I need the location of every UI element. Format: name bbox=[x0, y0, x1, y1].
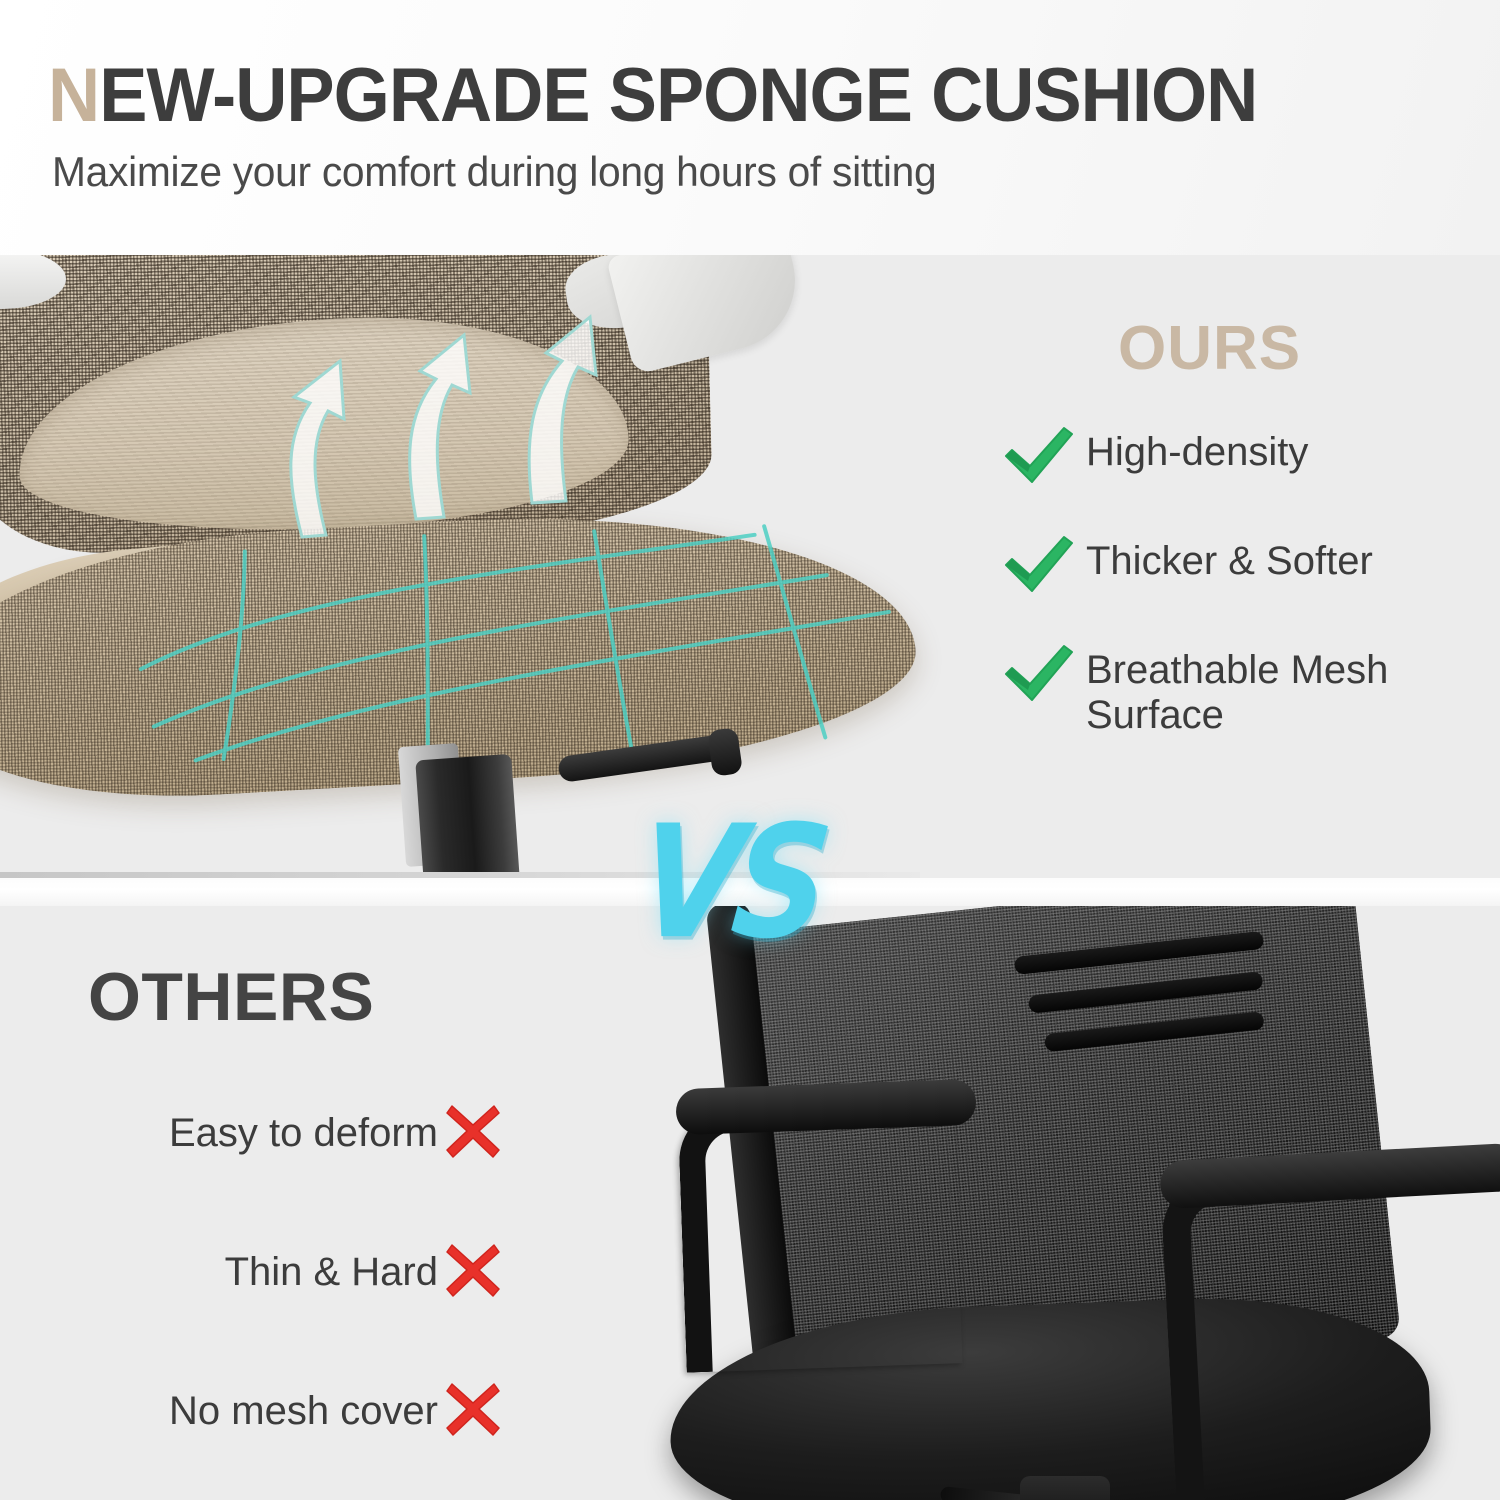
black-chair-left-armrest bbox=[677, 1097, 962, 1372]
cross-icon bbox=[444, 1102, 508, 1165]
black-chair-lumbar-ribs bbox=[1013, 920, 1307, 1098]
list-item-label: No mesh cover bbox=[169, 1389, 438, 1434]
header-banner: NEW-UPGRADE SPONGE CUSHION Maximize your… bbox=[0, 0, 1500, 255]
ours-heading: OURS bbox=[1118, 313, 1480, 384]
black-chair-base-column bbox=[1020, 1476, 1110, 1500]
list-item: High-density bbox=[1000, 430, 1480, 493]
product-infographic: NEW-UPGRADE SPONGE CUSHION Maximize your… bbox=[0, 0, 1500, 1500]
ours-feature-block: OURS High-density bbox=[1000, 313, 1480, 784]
check-icon bbox=[1000, 426, 1086, 493]
list-item: Breathable Mesh Surface bbox=[1000, 648, 1480, 738]
list-item-label: Breathable Mesh Surface bbox=[1086, 648, 1446, 738]
others-feature-block: OTHERS Easy to deform Thin & Hard bbox=[88, 958, 608, 1500]
others-heading: OTHERS bbox=[88, 958, 608, 1036]
page-subtitle: Maximize your comfort during long hours … bbox=[52, 148, 936, 196]
cross-icon bbox=[444, 1380, 508, 1443]
check-icon bbox=[1000, 535, 1086, 602]
page-title: NEW-UPGRADE SPONGE CUSHION bbox=[48, 52, 1257, 139]
list-item-label: Thin & Hard bbox=[225, 1250, 438, 1295]
others-feature-list: Easy to deform Thin & Hard bbox=[88, 1102, 608, 1443]
ours-feature-list: High-density Thicker & Softer bbox=[1000, 430, 1480, 738]
black-chair-right-armrest bbox=[1160, 1159, 1500, 1500]
list-item: Thin & Hard bbox=[88, 1241, 508, 1304]
list-item: No mesh cover bbox=[88, 1380, 508, 1443]
vs-badge: VS bbox=[630, 792, 830, 974]
beige-chair-image bbox=[0, 255, 970, 880]
airflow-arrows-icon bbox=[240, 287, 660, 587]
page-title-initial: N bbox=[48, 53, 99, 138]
chair-gas-cylinder bbox=[415, 754, 521, 880]
check-icon bbox=[1000, 644, 1086, 711]
page-title-rest: EW-UPGRADE SPONGE CUSHION bbox=[99, 53, 1257, 138]
others-panel: OTHERS Easy to deform Thin & Hard bbox=[0, 906, 1500, 1500]
list-item: Thicker & Softer bbox=[1000, 539, 1480, 602]
ours-panel: OURS High-density bbox=[0, 255, 1500, 880]
list-item-label: Easy to deform bbox=[169, 1111, 438, 1156]
list-item-label: Thicker & Softer bbox=[1086, 539, 1373, 584]
black-chair-image bbox=[690, 906, 1500, 1500]
cross-icon bbox=[444, 1241, 508, 1304]
list-item: Easy to deform bbox=[88, 1102, 508, 1165]
list-item-label: High-density bbox=[1086, 430, 1308, 475]
